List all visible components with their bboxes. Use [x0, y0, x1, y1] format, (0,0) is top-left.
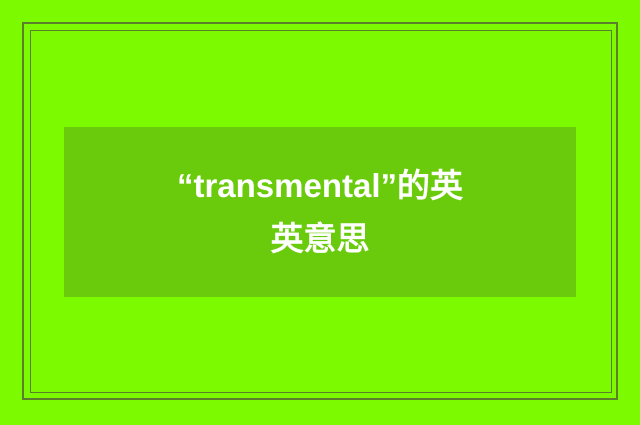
headline-text: “transmental”的英英意思	[175, 159, 465, 266]
banner-canvas: “transmental”的英英意思	[0, 0, 640, 425]
content-panel: “transmental”的英英意思	[64, 127, 576, 297]
